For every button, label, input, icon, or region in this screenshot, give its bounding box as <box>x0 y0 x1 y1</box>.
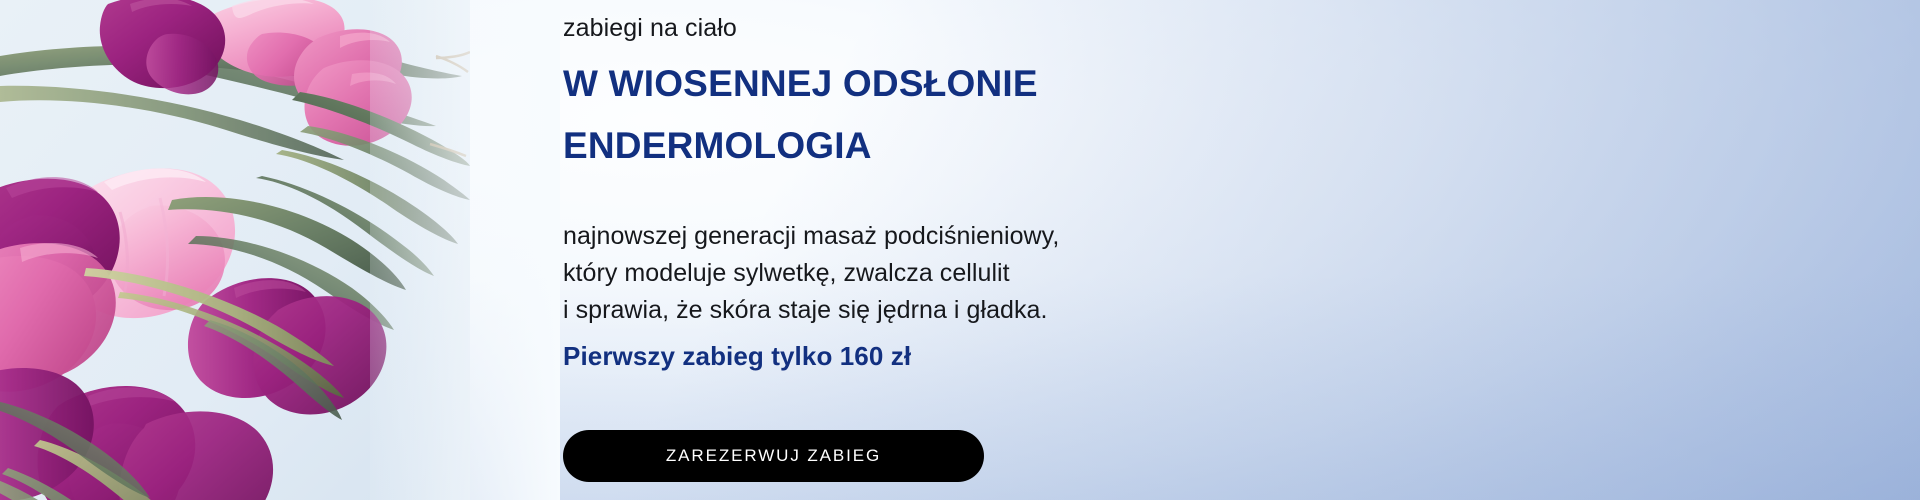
body-copy-line-3: i sprawia, że skóra staje się jędrna i g… <box>563 292 1059 329</box>
promo-banner: zabiegi na ciało W WIOSENNEJ ODSŁONIE EN… <box>0 0 1920 500</box>
tulips-photo <box>0 0 470 500</box>
book-treatment-button[interactable]: ZAREZERWUJ ZABIEG <box>563 430 984 482</box>
banner-content: zabiegi na ciało W WIOSENNEJ ODSŁONIE EN… <box>563 0 1463 500</box>
body-copy: najnowszej generacji masaż podciśnieniow… <box>563 218 1059 329</box>
body-copy-line-1: najnowszej generacji masaż podciśnieniow… <box>563 218 1059 255</box>
price-highlight: Pierwszy zabieg tylko 160 zł <box>563 341 911 372</box>
headline-line-1: W WIOSENNEJ ODSŁONIE <box>563 62 1038 106</box>
body-copy-line-2: który modeluje sylwetkę, zwalcza celluli… <box>563 255 1059 292</box>
headline-line-2: ENDERMOLOGIA <box>563 124 872 168</box>
eyebrow-text: zabiegi na ciało <box>563 12 737 44</box>
